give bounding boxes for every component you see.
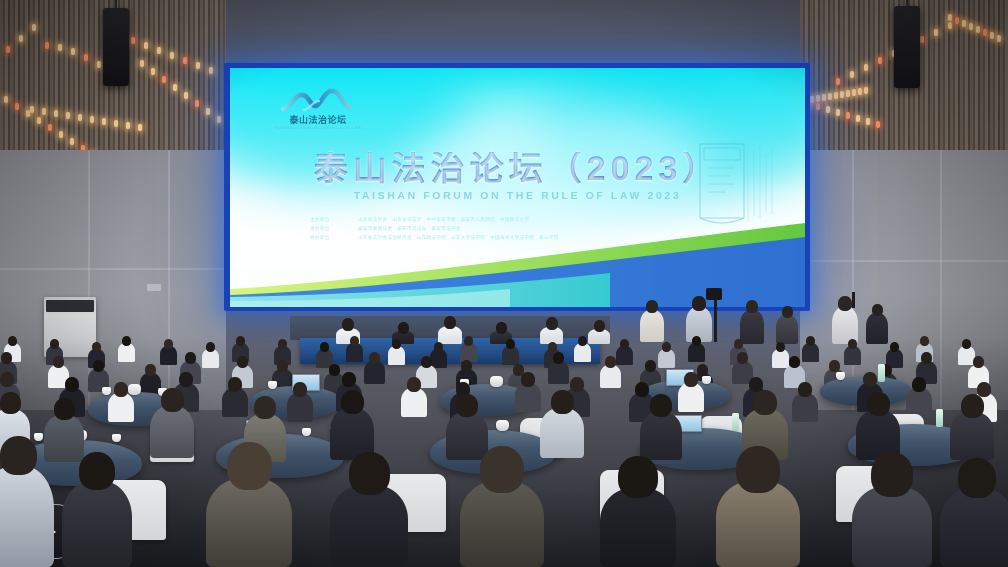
led-light <box>90 116 94 123</box>
person-head <box>546 317 558 330</box>
forum-logo: 泰山法治论坛 TAISHAN FORUM ON THE RULE OF LAW <box>268 88 368 140</box>
person-head <box>8 336 17 346</box>
person-head <box>645 360 656 372</box>
audience-member <box>287 382 313 422</box>
led-light <box>138 124 142 131</box>
led-light <box>97 61 101 68</box>
video-frame: 泰山法治论坛 TAISHAN FORUM ON THE RULE OF LAW … <box>0 0 1008 567</box>
person-head <box>65 377 79 392</box>
audience-member <box>940 458 1008 567</box>
person-head <box>506 339 515 349</box>
person-head <box>237 356 248 368</box>
led-light <box>170 52 174 59</box>
person-head <box>228 377 242 392</box>
tripod <box>852 292 855 308</box>
person-head <box>349 452 390 495</box>
led-light <box>48 124 52 131</box>
led-light <box>209 67 213 74</box>
led-light <box>934 29 938 36</box>
led-light <box>66 112 70 119</box>
logo-text-cn: 泰山法治论坛 <box>268 116 368 125</box>
presidium-speaker <box>540 317 563 344</box>
audience-member <box>150 388 194 458</box>
person-head <box>838 296 852 311</box>
audience-member <box>574 336 591 362</box>
audience-member <box>906 377 932 417</box>
led-light <box>852 89 856 96</box>
led-light <box>184 92 188 99</box>
title-cn: 泰山法治论坛（2023） <box>230 152 805 186</box>
led-light <box>59 131 63 138</box>
led-light <box>962 20 966 27</box>
person-head <box>179 372 193 387</box>
person-head <box>737 352 748 364</box>
screen-title-block: 泰山法治论坛（2023） TAISHAN FORUM ON THE RULE O… <box>230 152 805 202</box>
led-light <box>78 114 82 121</box>
person-head <box>961 394 984 418</box>
person-head <box>0 392 21 414</box>
person-head <box>553 352 564 364</box>
led-light <box>920 36 924 43</box>
video-camera <box>706 288 722 300</box>
led-light <box>976 26 980 33</box>
person-head <box>114 382 128 397</box>
person-head <box>958 458 996 498</box>
led-light <box>850 71 854 78</box>
person-torso <box>62 481 132 567</box>
person-torso <box>640 310 664 342</box>
led-light <box>948 22 952 29</box>
teapot <box>496 420 509 431</box>
title-en: TAISHAN FORUM ON THE RULE OF LAW 2023 <box>230 191 805 202</box>
person-head <box>776 342 785 352</box>
led-light <box>162 76 166 83</box>
person-head <box>863 372 877 387</box>
person-torso <box>600 365 621 388</box>
audience-member <box>792 382 818 422</box>
audience-member <box>330 452 408 567</box>
person-head <box>692 296 706 311</box>
led-light <box>864 87 868 94</box>
speaker-left <box>103 8 129 86</box>
led-light <box>834 92 838 99</box>
presidium-speaker <box>438 316 462 344</box>
person-head <box>0 372 14 387</box>
person-torso <box>950 412 994 460</box>
person-head <box>736 446 780 493</box>
water-bottle <box>732 413 739 431</box>
audience-member <box>600 456 676 567</box>
person-torso <box>776 315 798 344</box>
led-light <box>151 68 155 75</box>
person-head <box>227 442 272 490</box>
led-light <box>4 96 8 103</box>
person-head <box>79 452 115 490</box>
led-light <box>157 47 161 54</box>
led-light <box>42 108 46 115</box>
teacup <box>268 381 277 389</box>
person-head <box>618 456 658 498</box>
led-light <box>71 48 75 55</box>
audience-member <box>600 356 621 388</box>
led-light <box>878 57 882 64</box>
audience-member <box>202 342 219 368</box>
led-light <box>826 106 830 113</box>
person-head <box>548 342 557 352</box>
audience-member <box>364 352 385 384</box>
person-torso <box>206 478 292 567</box>
person-torso <box>108 393 134 422</box>
logo-text-en: TAISHAN FORUM ON THE RULE OF LAW <box>268 127 368 130</box>
led-light <box>846 112 850 119</box>
person-head <box>342 318 354 331</box>
person-head <box>521 372 535 387</box>
led-light <box>70 138 74 145</box>
person-head <box>369 352 380 364</box>
person-head <box>867 392 890 416</box>
led-light <box>102 118 106 125</box>
person-head <box>912 377 926 392</box>
person-torso <box>716 481 800 567</box>
person-torso <box>906 388 932 417</box>
person-head <box>692 336 701 346</box>
led-light <box>144 42 148 49</box>
person-head <box>456 394 478 417</box>
led-light <box>822 94 826 101</box>
audience-member <box>515 372 541 412</box>
person-head <box>161 388 184 412</box>
person-head <box>734 339 743 349</box>
person-head <box>464 336 473 346</box>
led-light <box>866 118 870 125</box>
person-head <box>746 300 758 313</box>
person-torso <box>364 361 385 384</box>
person-head <box>798 382 812 397</box>
person-torso <box>540 408 584 458</box>
person-head <box>350 336 359 346</box>
person-head <box>421 356 432 368</box>
person-head <box>434 342 443 352</box>
person-head <box>829 360 840 372</box>
led-light <box>84 54 88 61</box>
person-head <box>871 452 913 497</box>
person-head <box>1 352 12 364</box>
person-head <box>973 356 984 368</box>
person-torso <box>460 481 544 567</box>
person-torso <box>640 412 682 460</box>
led-light <box>217 116 221 123</box>
person-head <box>753 390 777 415</box>
tripod <box>714 300 717 342</box>
teacup <box>112 434 121 442</box>
person-head <box>444 316 456 329</box>
person-head <box>890 342 899 352</box>
teacup <box>302 428 311 436</box>
camera-crew-member <box>640 300 664 342</box>
person-head <box>122 336 131 346</box>
led-light <box>19 35 23 42</box>
person-head <box>578 336 587 346</box>
person-head <box>407 377 421 392</box>
led-light <box>816 103 820 110</box>
led-light <box>54 110 58 117</box>
water-bottle <box>936 409 943 427</box>
person-torso <box>515 383 541 412</box>
teacup <box>836 372 845 380</box>
led-light <box>948 14 952 21</box>
led-light <box>983 29 987 36</box>
person-head <box>50 339 59 349</box>
person-head <box>646 300 658 313</box>
person-head <box>278 339 287 349</box>
person-head <box>848 339 857 349</box>
audience-member <box>540 390 584 458</box>
camera-crew-member <box>740 300 764 344</box>
audience-member <box>716 446 800 567</box>
led-light <box>876 121 880 128</box>
mountain-wave-mark-icon <box>280 88 356 114</box>
person-torso <box>0 466 54 567</box>
person-head <box>398 322 409 334</box>
audience-member <box>460 446 544 567</box>
person-head <box>164 339 173 349</box>
person-head <box>461 360 472 372</box>
audience-member <box>950 394 994 460</box>
led-light <box>856 115 860 122</box>
led-screen: 泰山法治论坛 TAISHAN FORUM ON THE RULE OF LAW … <box>230 68 805 307</box>
led-light <box>955 17 959 24</box>
person-head <box>551 390 574 414</box>
led-light <box>828 93 832 100</box>
person-head <box>684 372 698 387</box>
person-head <box>341 390 364 414</box>
led-light <box>810 96 814 103</box>
led-light <box>15 103 19 110</box>
conference-hall: 泰山法治论坛 TAISHAN FORUM ON THE RULE OF LAW … <box>0 0 1008 567</box>
audience-member <box>62 452 132 567</box>
person-head <box>920 336 929 346</box>
audience-member <box>460 336 477 362</box>
led-light <box>836 78 840 85</box>
led-light <box>131 37 135 44</box>
camera-crew-member <box>776 306 798 344</box>
person-torso <box>866 313 888 344</box>
person-head <box>480 446 524 493</box>
audience-member <box>0 436 54 567</box>
led-light <box>32 24 36 31</box>
person-head <box>277 360 288 372</box>
person-head <box>254 396 276 419</box>
person-head <box>662 342 671 352</box>
person-head <box>806 336 815 346</box>
audience-member <box>160 339 177 365</box>
led-light <box>846 90 850 97</box>
led-light <box>840 91 844 98</box>
led-light <box>990 32 994 39</box>
teapot <box>490 376 503 387</box>
person-head <box>93 360 104 372</box>
led-light <box>183 57 187 64</box>
person-head <box>92 342 101 352</box>
person-torso <box>852 486 932 567</box>
person-head <box>962 339 971 349</box>
led-light <box>30 106 34 113</box>
person-head <box>206 342 215 352</box>
person-head <box>293 382 307 397</box>
person-head <box>496 322 507 334</box>
audience-member <box>401 377 427 417</box>
led-light <box>114 120 118 127</box>
wall-vent <box>147 284 161 291</box>
person-torso <box>401 388 427 417</box>
person-torso <box>792 393 818 422</box>
led-light <box>45 42 49 49</box>
person-head <box>320 342 329 352</box>
led-light <box>140 60 144 67</box>
audience-member <box>856 392 900 460</box>
led-light <box>816 95 820 102</box>
person-head <box>342 372 356 387</box>
person-torso <box>287 393 313 422</box>
audience-member <box>388 339 405 365</box>
led-light <box>206 108 210 115</box>
person-head <box>236 336 245 346</box>
audience-member <box>640 394 682 460</box>
audience-member <box>688 336 705 362</box>
person-torso <box>940 488 1008 567</box>
person-torso <box>150 406 194 458</box>
person-head <box>921 352 932 364</box>
person-torso <box>330 485 408 567</box>
person-torso <box>600 488 676 567</box>
presidium-speaker <box>588 320 610 344</box>
led-light <box>58 44 62 51</box>
person-head <box>605 356 616 368</box>
person-head <box>650 394 672 417</box>
person-head <box>594 320 605 332</box>
led-screen-frame: 泰山法治论坛 TAISHAN FORUM ON THE RULE OF LAW … <box>224 63 810 311</box>
audience-member <box>108 382 134 422</box>
led-light <box>858 88 862 95</box>
led-light <box>173 84 177 91</box>
led-light <box>836 109 840 116</box>
person-head <box>392 339 401 349</box>
camera-crew-member <box>866 304 888 344</box>
audience-member <box>346 336 363 362</box>
led-light <box>864 64 868 71</box>
person-head <box>145 364 156 376</box>
audience-member <box>502 339 519 365</box>
led-light <box>195 100 199 107</box>
person-head <box>782 306 793 318</box>
person-head <box>872 304 883 316</box>
person-head <box>53 356 64 368</box>
led-light <box>6 46 10 53</box>
led-light <box>126 122 130 129</box>
led-light <box>37 117 41 124</box>
person-head <box>185 352 196 364</box>
audience-member <box>206 442 292 567</box>
person-head <box>54 398 75 420</box>
audience-member <box>844 339 861 365</box>
person-head <box>0 436 37 475</box>
led-light <box>997 35 1001 42</box>
audience-member <box>330 390 374 460</box>
audience-member <box>118 336 135 362</box>
speaker-right <box>894 6 920 88</box>
led-light <box>196 62 200 69</box>
led-light <box>969 23 973 30</box>
person-head <box>620 339 629 349</box>
person-head <box>789 356 800 368</box>
audience-member <box>852 452 932 567</box>
